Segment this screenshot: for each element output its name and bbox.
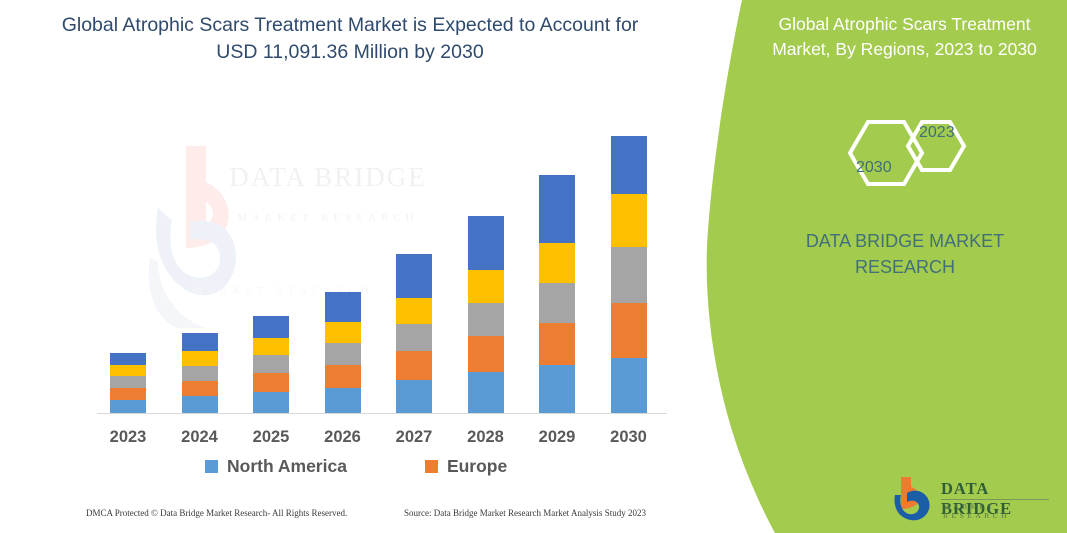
company-logo: DATA BRIDGE MARKET RESEARCH bbox=[893, 475, 1053, 523]
bar-column bbox=[182, 333, 218, 413]
hexagon-icon-group bbox=[820, 98, 990, 208]
x-axis-line bbox=[97, 413, 667, 414]
bar-segment bbox=[468, 372, 504, 413]
bar-segment bbox=[468, 216, 504, 270]
right-panel-brand: DATA BRIDGE MARKET RESEARCH bbox=[790, 228, 1020, 280]
bar-segment bbox=[468, 270, 504, 303]
bar-segment bbox=[110, 353, 146, 365]
bar-column bbox=[539, 175, 575, 413]
bar-segment bbox=[253, 338, 289, 355]
footer-source: Source: Data Bridge Market Research Mark… bbox=[404, 508, 646, 518]
bar-segment bbox=[539, 243, 575, 283]
x-axis-label: 2024 bbox=[166, 428, 234, 447]
bar-segment bbox=[611, 358, 647, 413]
bar-column bbox=[325, 292, 361, 413]
bar-segment bbox=[110, 376, 146, 388]
bar-column bbox=[611, 136, 647, 413]
bar-segment bbox=[468, 303, 504, 336]
bar-column bbox=[253, 316, 289, 413]
bar-segment bbox=[253, 355, 289, 373]
bar-segment bbox=[539, 175, 575, 243]
bar-segment bbox=[110, 365, 146, 376]
brand-line-1: DATA BRIDGE MARKET bbox=[790, 228, 1020, 254]
bar-segment bbox=[182, 396, 218, 413]
bar-chart-plot bbox=[0, 0, 700, 533]
x-axis-label: 2030 bbox=[595, 428, 663, 447]
bar-segment bbox=[396, 324, 432, 351]
hexagon-badges: 2023 2030 bbox=[820, 98, 990, 208]
bar-segment bbox=[396, 380, 432, 413]
footer: DMCA Protected © Data Bridge Market Rese… bbox=[86, 508, 686, 518]
bar-segment bbox=[182, 333, 218, 351]
legend-item[interactable]: Europe bbox=[425, 456, 507, 477]
legend-label: North America bbox=[227, 456, 347, 477]
bar-segment bbox=[182, 351, 218, 366]
bar-segment bbox=[253, 392, 289, 413]
bar-segment bbox=[611, 247, 647, 303]
logo-divider bbox=[941, 499, 1049, 500]
bar-segment bbox=[539, 283, 575, 323]
bar-segment bbox=[611, 303, 647, 358]
brand-line-2: RESEARCH bbox=[790, 254, 1020, 280]
bar-segment bbox=[325, 365, 361, 388]
chart-panel: Global Atrophic Scars Treatment Market i… bbox=[0, 0, 700, 533]
bar-segment bbox=[396, 298, 432, 324]
hexagon-2030-label: 2030 bbox=[856, 159, 892, 177]
legend-swatch-icon bbox=[425, 460, 438, 473]
x-axis-label: 2027 bbox=[380, 428, 448, 447]
bar-segment bbox=[110, 388, 146, 400]
legend-label: Europe bbox=[447, 456, 507, 477]
legend-item[interactable]: North America bbox=[205, 456, 347, 477]
bar-segment bbox=[325, 292, 361, 322]
x-axis-label: 2023 bbox=[94, 428, 162, 447]
legend-swatch-icon bbox=[205, 460, 218, 473]
x-axis-label: 2026 bbox=[309, 428, 377, 447]
data-bridge-logo-icon bbox=[893, 475, 939, 521]
bar-segment bbox=[325, 388, 361, 413]
bar-segment bbox=[253, 373, 289, 392]
bar-column bbox=[110, 353, 146, 413]
bar-segment bbox=[396, 254, 432, 298]
bar-column bbox=[468, 216, 504, 413]
x-axis-label: 2025 bbox=[237, 428, 305, 447]
bar-segment bbox=[110, 400, 146, 413]
bar-segment bbox=[539, 323, 575, 365]
footer-copyright: DMCA Protected © Data Bridge Market Rese… bbox=[86, 508, 404, 518]
chart-legend: North AmericaEurope bbox=[205, 456, 507, 477]
bar-segment bbox=[468, 336, 504, 372]
slide-root: Global Atrophic Scars Treatment Market i… bbox=[0, 0, 1067, 533]
bar-segment bbox=[611, 194, 647, 247]
bar-segment bbox=[325, 343, 361, 365]
bar-segment bbox=[253, 316, 289, 338]
bar-column bbox=[396, 254, 432, 413]
bar-segment bbox=[539, 365, 575, 413]
x-axis-label: 2029 bbox=[523, 428, 591, 447]
bar-segment bbox=[611, 136, 647, 194]
bar-segment bbox=[182, 366, 218, 381]
bar-segment bbox=[325, 322, 361, 343]
bar-segment bbox=[396, 351, 432, 380]
logo-subtitle: MARKET RESEARCH bbox=[943, 502, 1053, 520]
x-axis-label: 2028 bbox=[452, 428, 520, 447]
right-panel-title: Global Atrophic Scars Treatment Market, … bbox=[752, 12, 1057, 62]
bar-segment bbox=[182, 381, 218, 396]
hexagon-2023-label: 2023 bbox=[919, 124, 955, 142]
